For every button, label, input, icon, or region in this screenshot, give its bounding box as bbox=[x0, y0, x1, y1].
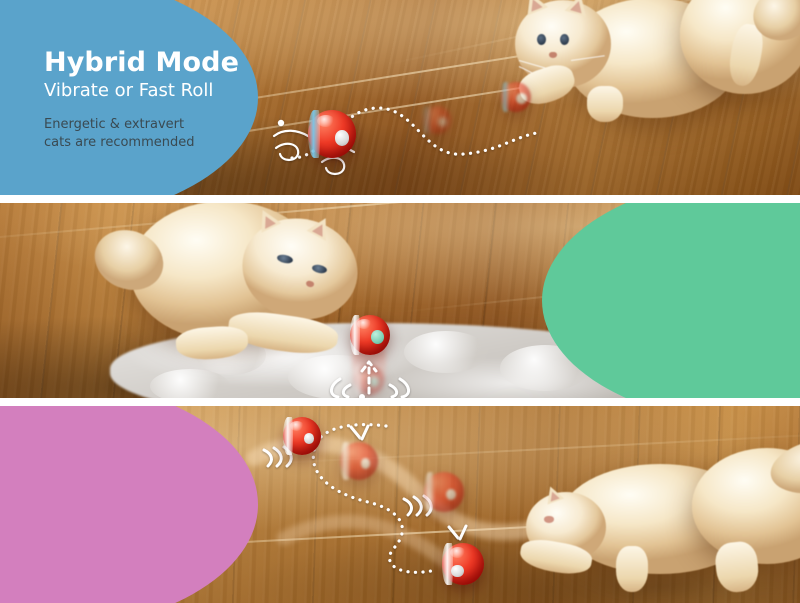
ball-band bbox=[423, 106, 430, 134]
caption-blob-bounce bbox=[542, 203, 800, 398]
panel-subtitle-hybrid: Vibrate or Fast Roll bbox=[44, 80, 239, 102]
ball-sensor bbox=[438, 117, 448, 127]
caption-hybrid: Hybrid Mode Vibrate or Fast Roll Energet… bbox=[44, 48, 239, 153]
ball-sensor bbox=[446, 489, 456, 500]
cat-eye-right bbox=[560, 34, 569, 45]
ball-highlight bbox=[317, 115, 335, 127]
toy-ball-roll-2 bbox=[340, 442, 378, 480]
cat-midleg bbox=[616, 546, 648, 592]
ball-highlight bbox=[450, 547, 466, 558]
ball-sensor bbox=[335, 130, 349, 145]
toy-ball-roll-4 bbox=[442, 543, 484, 585]
panel-hybrid-mode: Hybrid Mode Vibrate or Fast Roll Energet… bbox=[0, 0, 800, 195]
cat-eye-left bbox=[537, 34, 546, 45]
toy-ball-roll-1 bbox=[283, 417, 321, 455]
panel-description-hybrid: Energetic & extravert cats are recommend… bbox=[44, 116, 239, 153]
toy-ball-hybrid bbox=[308, 110, 356, 158]
ball-highlight bbox=[357, 319, 372, 329]
cat-foreleg-right bbox=[587, 86, 623, 122]
toy-ball-roll-3 bbox=[424, 472, 464, 512]
ball-highlight bbox=[290, 421, 304, 431]
panel-title-hybrid: Hybrid Mode bbox=[44, 48, 239, 78]
ball-sensor bbox=[516, 93, 527, 104]
ball-band bbox=[424, 472, 434, 512]
panel-roll-mode: Roll Mode Shake or Slow Roll Shy & timid… bbox=[0, 406, 800, 603]
ball-band bbox=[501, 82, 509, 112]
ball-band bbox=[340, 442, 350, 480]
caption-blob-roll bbox=[0, 406, 258, 603]
bounce-motion-graphic bbox=[324, 335, 454, 398]
panel-bounce-mode: Bounce Mode Tap to Bounce Bold & courage… bbox=[0, 203, 800, 398]
ball-sensor bbox=[451, 565, 464, 578]
toy-ball-ghost-near bbox=[501, 82, 531, 112]
ball-sensor bbox=[304, 433, 314, 444]
infographic-board: Hybrid Mode Vibrate or Fast Roll Energet… bbox=[0, 0, 800, 603]
toy-ball-ghost-far bbox=[423, 106, 451, 134]
cat-nose bbox=[549, 52, 557, 58]
ball-sensor bbox=[361, 458, 371, 469]
